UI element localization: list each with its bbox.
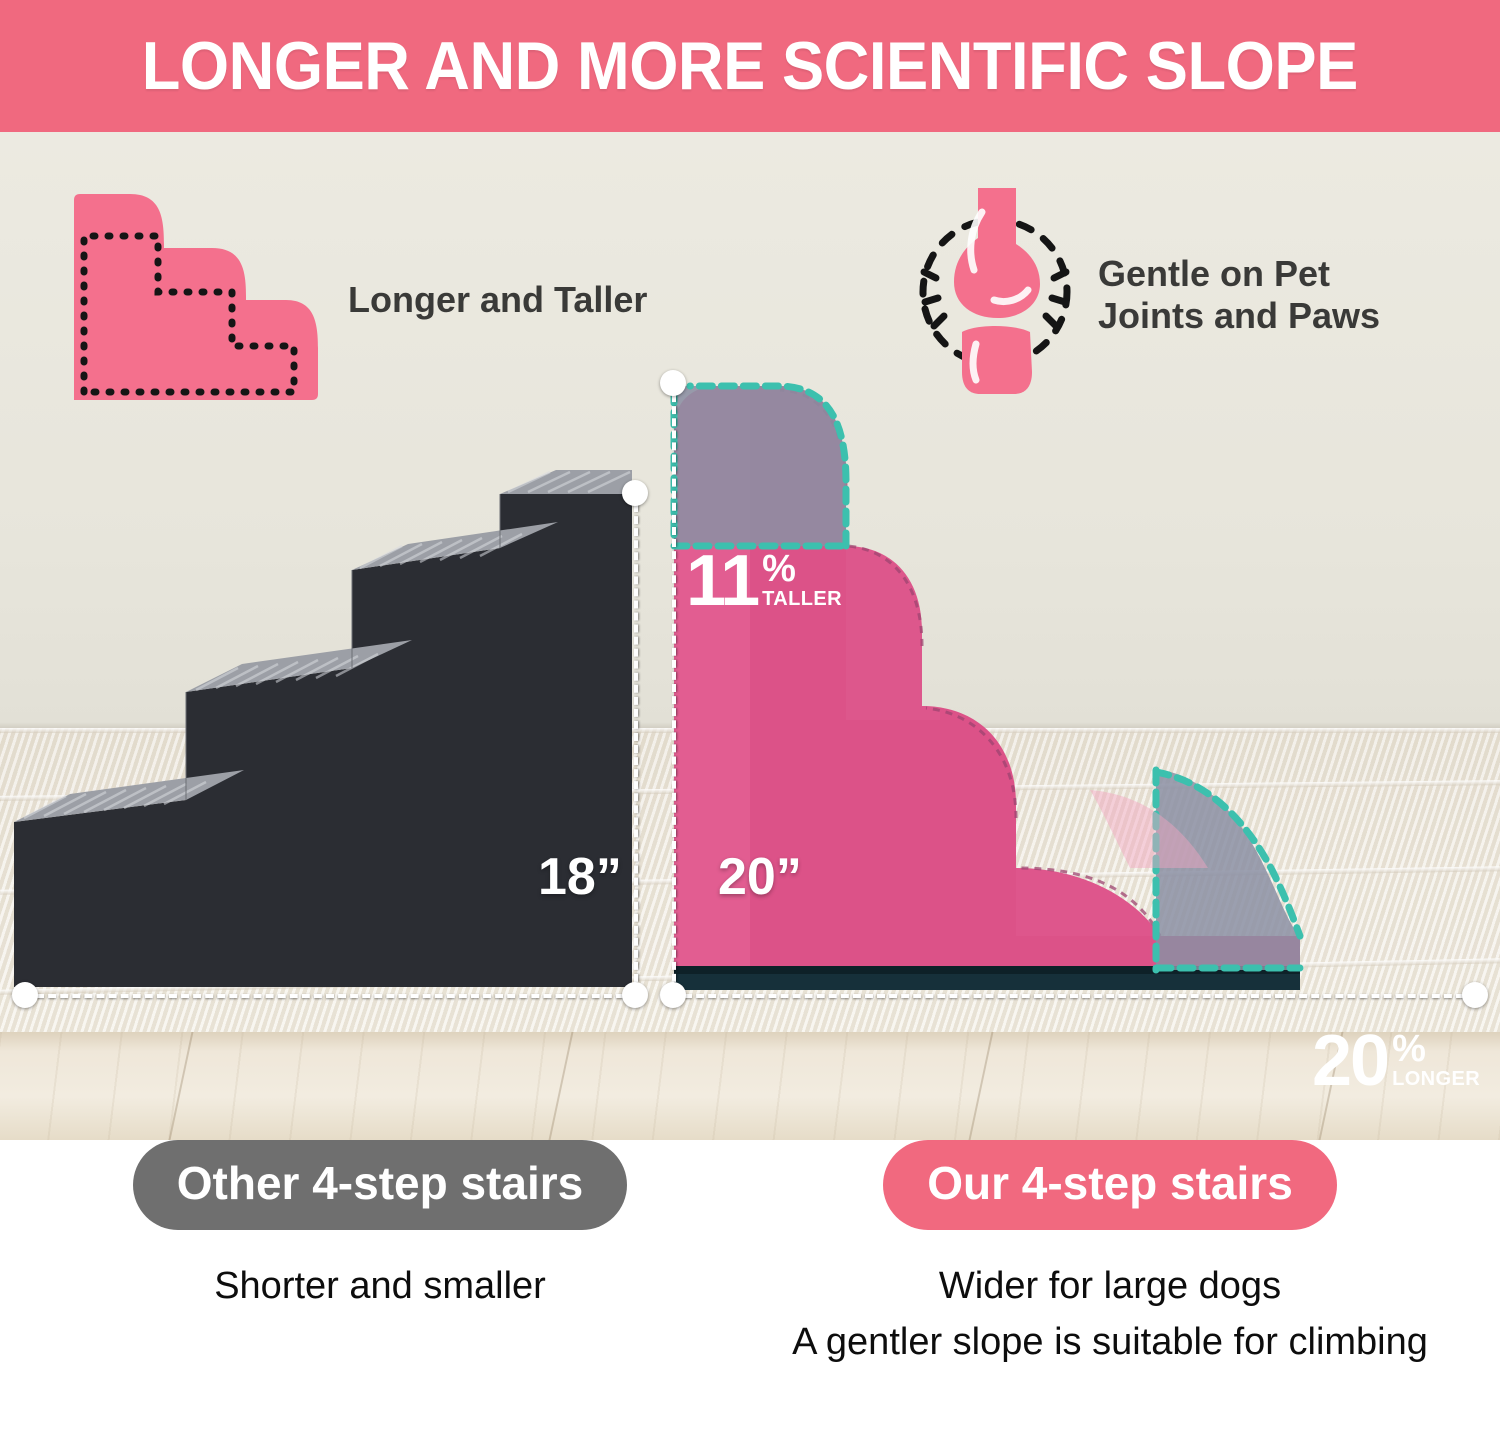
pill-our-stairs: Our 4-step stairs bbox=[883, 1140, 1337, 1230]
badge-longer-number: 20 bbox=[1312, 1032, 1388, 1091]
wood-floor-background bbox=[0, 1032, 1500, 1140]
badge-taller-word: TALLER bbox=[762, 588, 842, 611]
measure-dot-other-height-top bbox=[622, 480, 648, 506]
dimension-label-our-height: 20” bbox=[718, 847, 802, 907]
comparison-column-other: Other 4-step stairs Shorter and smaller bbox=[40, 1140, 720, 1312]
header-banner: LONGER AND MORE SCIENTIFIC SLOPE bbox=[0, 0, 1500, 132]
badge-taller-percent-sign: % bbox=[762, 552, 796, 586]
dimension-label-other-length: 24” bbox=[306, 1132, 383, 1140]
measure-dot-our-height-top bbox=[660, 370, 686, 396]
other-stairs-product bbox=[0, 462, 650, 997]
our-stairs-description-1: Wider for large dogs bbox=[740, 1260, 1480, 1312]
comparison-captions: Other 4-step stairs Shorter and smaller … bbox=[0, 1140, 1500, 1452]
comparison-column-ours: Our 4-step stairs Wider for large dogs A… bbox=[740, 1140, 1480, 1369]
pill-other-stairs: Other 4-step stairs bbox=[133, 1140, 627, 1230]
badge-longer-percent-sign: % bbox=[1392, 1032, 1426, 1066]
badge-taller-number: 11 bbox=[686, 552, 758, 611]
measure-line-other-length bbox=[24, 994, 636, 998]
feature-longer-taller: Longer and Taller bbox=[72, 192, 647, 407]
other-stairs-description-1: Shorter and smaller bbox=[40, 1260, 720, 1312]
our-stairs-description-2: A gentler slope is suitable for climbing bbox=[740, 1316, 1480, 1368]
badge-11-percent-taller: 11 % TALLER bbox=[686, 552, 842, 611]
measure-line-other-height bbox=[634, 492, 638, 994]
feature-longer-taller-label: Longer and Taller bbox=[348, 279, 647, 321]
page-title: LONGER AND MORE SCIENTIFIC SLOPE bbox=[142, 27, 1358, 105]
feature-gentle-joints-label: Gentle on Pet Joints and Paws bbox=[1098, 253, 1380, 337]
product-comparison-scene: Longer and Taller bbox=[0, 132, 1500, 1140]
badge-longer-word: LONGER bbox=[1392, 1068, 1480, 1091]
measure-dot-other-length-left bbox=[12, 982, 38, 1008]
dimension-label-our-length: 29” bbox=[1036, 1132, 1113, 1140]
measure-dot-our-length-right bbox=[1462, 982, 1488, 1008]
measure-dot-other-length-right bbox=[622, 982, 648, 1008]
measure-dot-our-length-left bbox=[660, 982, 686, 1008]
dimension-label-other-height: 18” bbox=[538, 847, 622, 907]
badge-20-percent-longer: 20 % LONGER bbox=[1312, 1032, 1480, 1091]
stairs-outline-icon bbox=[72, 192, 322, 407]
measure-line-our-length bbox=[672, 994, 1476, 998]
measure-line-our-height bbox=[672, 382, 676, 994]
